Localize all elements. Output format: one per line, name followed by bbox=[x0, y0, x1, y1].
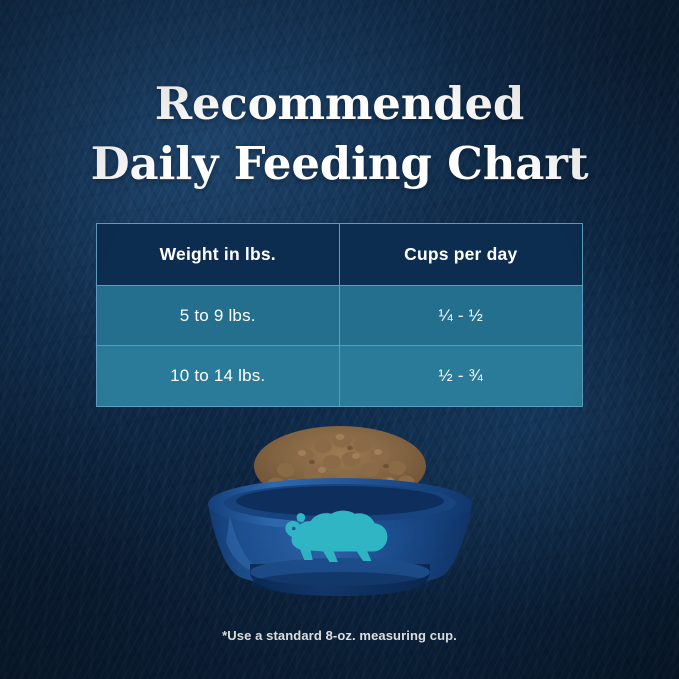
table-row: 5 to 9 lbs. ¼ - ½ bbox=[97, 286, 582, 346]
table-header-row: Weight in lbs. Cups per day bbox=[97, 224, 582, 286]
cell-cups-1: ¼ - ½ bbox=[340, 286, 583, 346]
cell-weight-2: 10 to 14 lbs. bbox=[97, 346, 340, 406]
column-header-weight: Weight in lbs. bbox=[97, 224, 340, 286]
footnote: *Use a standard 8-oz. measuring cup. bbox=[0, 628, 679, 643]
table-row: 10 to 14 lbs. ½ - ¾ bbox=[97, 346, 582, 406]
dog-food-bowl-illustration bbox=[190, 404, 490, 604]
bowl-svg bbox=[190, 404, 490, 604]
cell-cups-2: ½ - ¾ bbox=[340, 346, 583, 406]
feeding-chart-table: Weight in lbs. Cups per day 5 to 9 lbs. … bbox=[96, 223, 583, 407]
column-header-cups: Cups per day bbox=[340, 224, 583, 286]
page-title: Recommended Daily Feeding Chart bbox=[0, 74, 679, 194]
page-title-line1: Recommended bbox=[155, 77, 524, 130]
page-title-line2: Daily Feeding Chart bbox=[0, 134, 679, 194]
feeding-chart-page: Recommended Daily Feeding Chart Weight i… bbox=[0, 0, 679, 679]
cell-weight-1: 5 to 9 lbs. bbox=[97, 286, 340, 346]
